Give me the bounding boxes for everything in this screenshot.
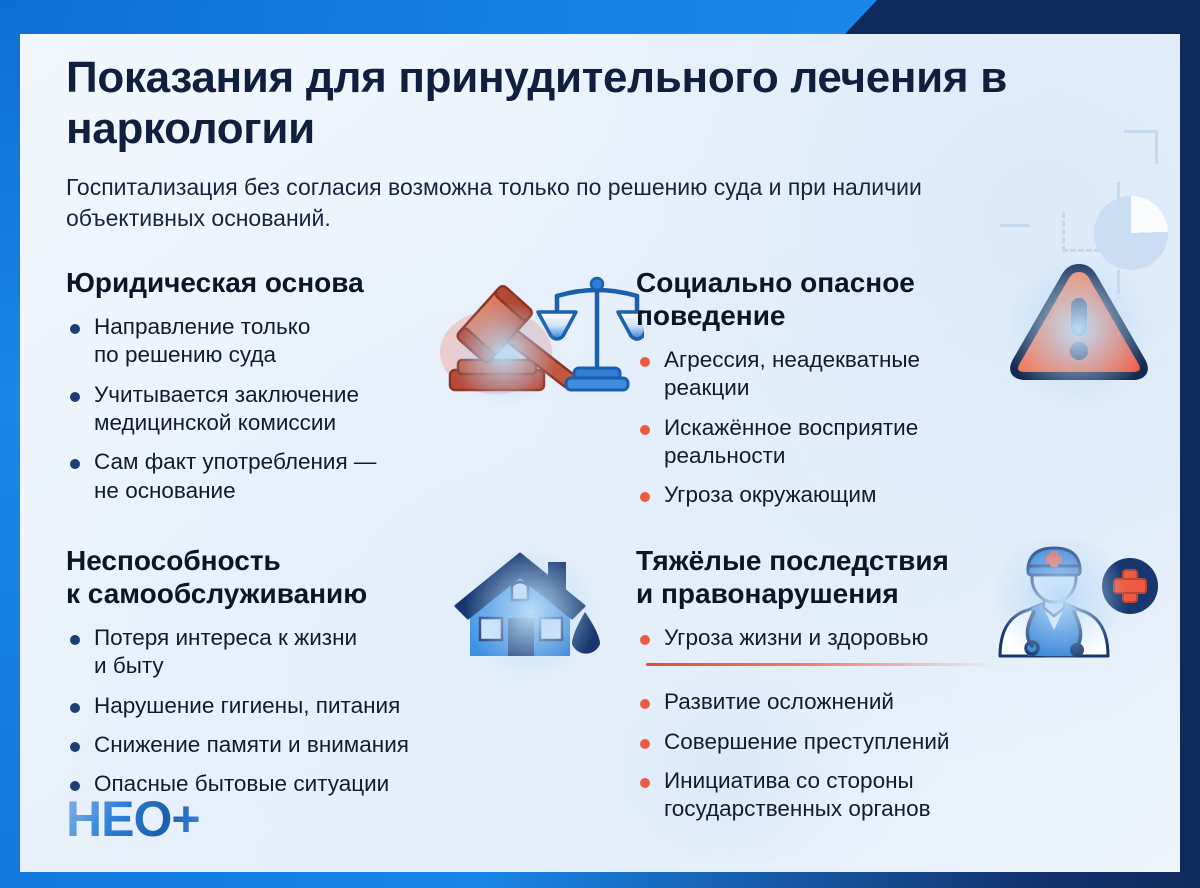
header: Показания для принудительного лечения в … (66, 52, 1026, 235)
logo-text: НЕО+ (66, 794, 276, 844)
section-legal-basis: Юридическая основа Направление только по… (66, 266, 636, 544)
list-item: Совершение преступлений (636, 728, 1150, 756)
list-item: Снижение памяти и внимания (66, 731, 636, 759)
doctor-cross-icon (980, 538, 1160, 658)
list-item: Угроза окружающим (636, 481, 1150, 509)
section-bullet-list: Развитие осложнений Совершение преступле… (636, 688, 1150, 823)
house-droplet-icon (442, 544, 622, 674)
list-item: Сам факт употребления — не основание (66, 448, 636, 505)
tick-mark-decoration (1117, 182, 1120, 208)
top-blue-band (0, 0, 880, 34)
section-dangerous-behavior: Социально опасное поведение Агрессия, не… (636, 266, 1150, 544)
page-title: Показания для принудительного лечения в … (66, 52, 1026, 154)
warning-triangle-icon (1004, 258, 1154, 398)
dashed-bracket-decoration (1062, 212, 1108, 252)
top-navy-band (845, 0, 1200, 34)
page-subtitle: Госпитализация без согласия возможна тол… (66, 172, 1026, 235)
section-divider (646, 663, 996, 666)
infographic-canvas: Показания для принудительного лечения в … (20, 34, 1180, 872)
left-blue-border (0, 0, 20, 888)
list-item: Инициатива со стороны государственных ор… (636, 767, 1150, 824)
brand-logo: НЕО+ (66, 794, 276, 856)
corner-bracket-decoration (1124, 130, 1158, 164)
gavel-scales-icon (434, 270, 644, 400)
infographic-frame: Показания для принудительного лечения в … (0, 0, 1200, 888)
sections-grid: Юридическая основа Направление только по… (66, 266, 1150, 866)
right-navy-border (1180, 0, 1200, 888)
list-item: Нарушение гигиены, питания (66, 692, 636, 720)
list-item: Искажённое восприятие реальности (636, 414, 1150, 471)
list-item: Развитие осложнений (636, 688, 1150, 716)
bottom-blue-border (0, 872, 1200, 888)
section-severe-consequences: Тяжёлые последствия и правонарушения Угр… (636, 544, 1150, 866)
